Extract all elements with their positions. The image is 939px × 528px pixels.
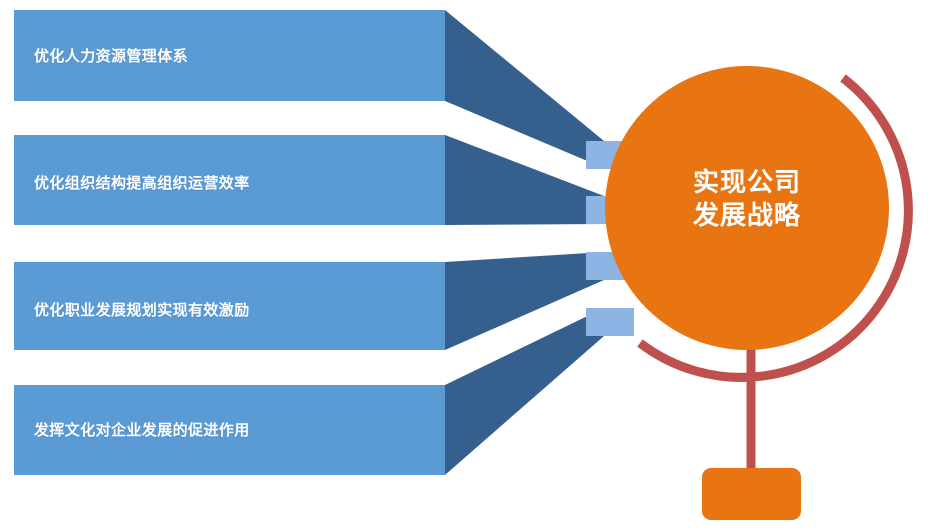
diagram-canvas: 优化人力资源管理体系 优化组织结构提高组织运营效率 优化职业发展规划实现有效激励…: [0, 0, 939, 528]
arrow-bar-1: [14, 10, 445, 101]
base-rectangle: [702, 468, 801, 520]
diagram-graphics: [0, 0, 939, 528]
hub-circle[interactable]: [605, 66, 889, 350]
arrow-group-2[interactable]: [14, 135, 634, 225]
arrow-group-3[interactable]: [14, 252, 634, 350]
arrow-bar-3: [14, 262, 445, 350]
arrow-bar-4: [14, 385, 445, 475]
arrow-bar-2: [14, 135, 445, 225]
connector-stub-4: [586, 308, 634, 336]
